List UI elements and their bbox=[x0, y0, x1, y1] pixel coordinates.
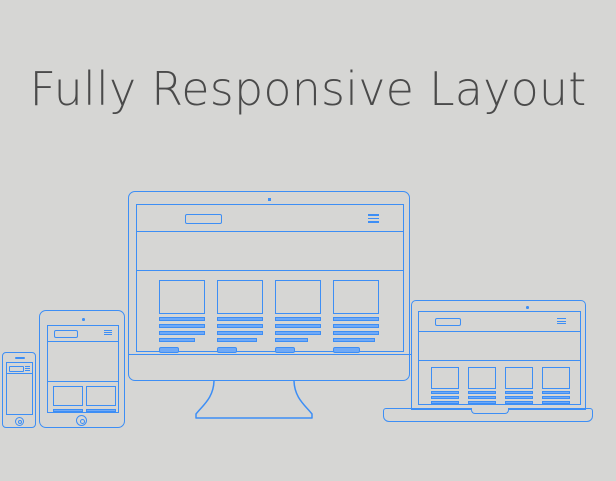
content-column bbox=[217, 280, 263, 353]
phone-screen bbox=[6, 362, 33, 415]
illustration-canvas: Fully Responsive Layout bbox=[0, 0, 616, 481]
text-line bbox=[333, 338, 375, 342]
text-line bbox=[53, 409, 83, 412]
image-placeholder bbox=[159, 280, 205, 314]
hamburger-menu-icon[interactable] bbox=[104, 330, 112, 338]
text-line bbox=[431, 401, 459, 404]
speaker-grill-icon bbox=[15, 357, 25, 359]
device-laptop bbox=[383, 300, 593, 425]
text-line bbox=[275, 317, 321, 321]
home-button[interactable] bbox=[15, 417, 24, 426]
monitor-stand bbox=[194, 380, 314, 420]
text-line bbox=[542, 391, 570, 394]
image-placeholder bbox=[86, 386, 116, 406]
content-column bbox=[431, 367, 459, 404]
camera-icon bbox=[82, 318, 85, 321]
phone-site-header bbox=[7, 363, 32, 374]
laptop-trackpad-notch bbox=[471, 408, 509, 414]
text-line bbox=[505, 396, 533, 399]
device-tablet bbox=[39, 310, 125, 428]
image-placeholder bbox=[275, 280, 321, 314]
image-placeholder bbox=[217, 280, 263, 314]
phone-hero-banner bbox=[7, 374, 32, 415]
image-placeholder bbox=[333, 280, 379, 314]
text-line bbox=[505, 401, 533, 404]
camera-icon bbox=[268, 198, 271, 201]
tablet-screen bbox=[47, 325, 119, 413]
hamburger-menu-icon[interactable] bbox=[368, 214, 379, 224]
desktop-chin-divider bbox=[129, 354, 411, 355]
desktop-site-header bbox=[137, 205, 403, 232]
hamburger-menu-icon[interactable] bbox=[557, 318, 566, 326]
tablet-bezel bbox=[39, 310, 125, 428]
read-more-button[interactable] bbox=[333, 347, 360, 353]
device-smartphone bbox=[2, 352, 36, 428]
read-more-button[interactable] bbox=[159, 347, 179, 353]
text-line bbox=[275, 338, 308, 342]
text-line bbox=[431, 391, 459, 394]
text-line bbox=[217, 317, 263, 321]
desktop-content-columns bbox=[137, 271, 403, 353]
logo-placeholder bbox=[185, 214, 222, 224]
text-line bbox=[217, 331, 263, 335]
text-line bbox=[431, 396, 459, 399]
logo-placeholder bbox=[435, 318, 461, 326]
text-line bbox=[159, 331, 205, 335]
desktop-screen bbox=[136, 204, 404, 352]
text-line bbox=[275, 324, 321, 328]
text-line bbox=[505, 391, 533, 394]
hamburger-menu-icon[interactable] bbox=[25, 366, 30, 371]
text-line bbox=[333, 331, 379, 335]
laptop-hero-banner bbox=[419, 332, 580, 361]
content-column bbox=[505, 367, 533, 404]
image-placeholder bbox=[468, 367, 496, 389]
read-more-button[interactable] bbox=[275, 347, 295, 353]
laptop-screen bbox=[418, 311, 581, 405]
content-column bbox=[275, 280, 321, 353]
device-desktop-monitor bbox=[128, 191, 410, 421]
desktop-bezel bbox=[128, 191, 410, 381]
home-button[interactable] bbox=[76, 415, 87, 426]
desktop-hero-banner bbox=[137, 232, 403, 271]
read-more-button[interactable] bbox=[217, 347, 237, 353]
image-placeholder bbox=[542, 367, 570, 389]
tablet-site-header bbox=[48, 326, 118, 342]
content-column bbox=[159, 280, 205, 353]
phone-bezel bbox=[2, 352, 36, 428]
text-line bbox=[217, 324, 263, 328]
content-column bbox=[542, 367, 570, 404]
laptop-lid bbox=[411, 300, 586, 410]
text-line bbox=[333, 317, 379, 321]
page-title: Fully Responsive Layout bbox=[0, 62, 616, 116]
text-line bbox=[217, 338, 257, 342]
image-placeholder bbox=[431, 367, 459, 389]
text-line bbox=[542, 401, 570, 404]
content-column bbox=[333, 280, 379, 353]
tablet-hero-banner bbox=[48, 342, 118, 382]
text-line bbox=[333, 324, 379, 328]
laptop-site-header bbox=[419, 312, 580, 332]
text-line bbox=[468, 396, 496, 399]
text-line bbox=[159, 324, 205, 328]
image-placeholder bbox=[53, 386, 83, 406]
image-placeholder bbox=[505, 367, 533, 389]
content-column bbox=[86, 386, 116, 412]
camera-icon bbox=[526, 306, 529, 309]
tablet-content-columns bbox=[48, 382, 118, 414]
text-line bbox=[275, 331, 321, 335]
laptop-content-columns bbox=[419, 361, 580, 406]
text-line bbox=[159, 338, 195, 342]
content-column bbox=[468, 367, 496, 404]
text-line bbox=[468, 401, 496, 404]
content-column bbox=[53, 386, 83, 412]
text-line bbox=[468, 391, 496, 394]
logo-placeholder bbox=[9, 366, 24, 372]
text-line bbox=[542, 396, 570, 399]
text-line bbox=[159, 317, 205, 321]
text-line bbox=[86, 409, 116, 412]
logo-placeholder bbox=[54, 330, 78, 338]
